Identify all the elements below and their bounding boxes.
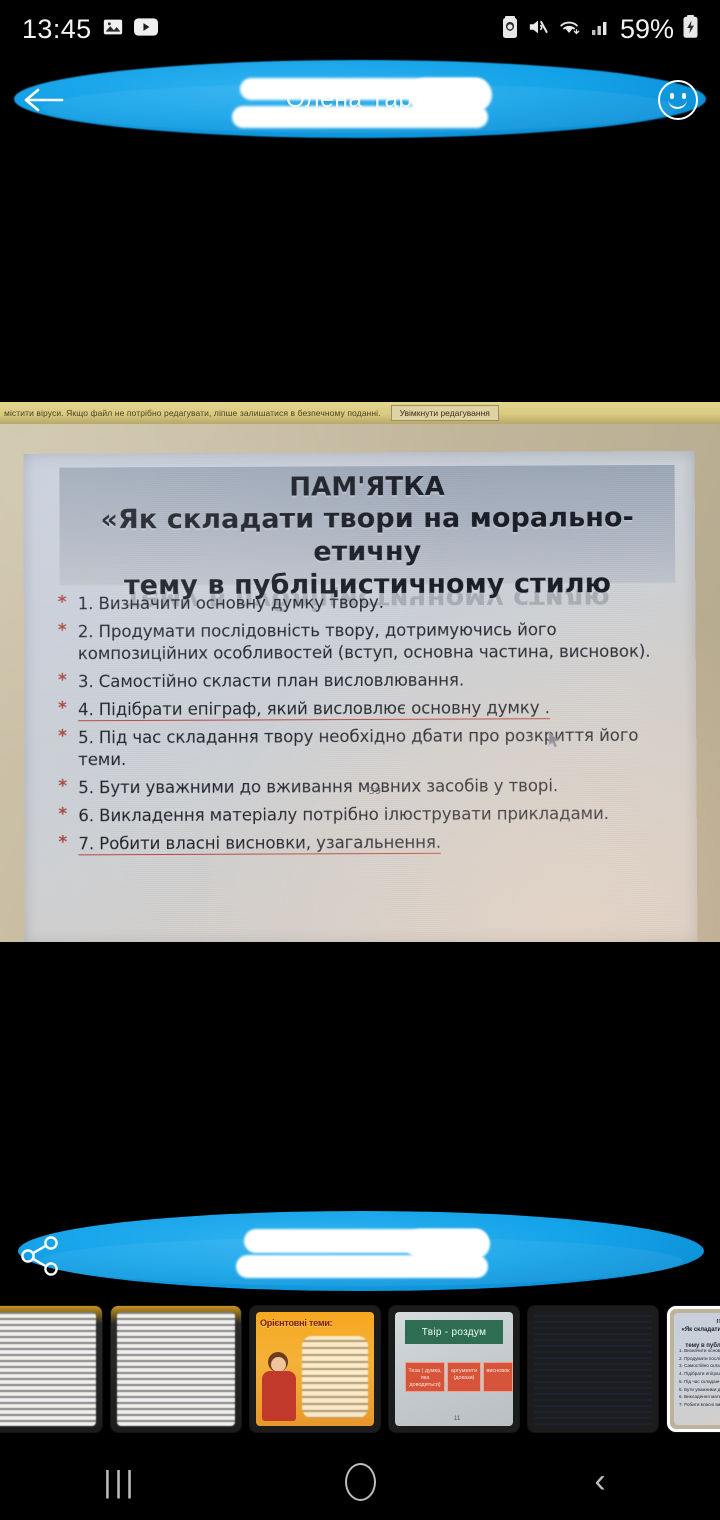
slide-content: ПАМ'ЯТКА «Як складати твори на морально-… [37,459,683,940]
slide-bullet-item: * 5. Бути уважними до вживання мовних за… [52,775,674,800]
status-bar-left: 13:45 [22,14,158,45]
bullet-star-icon: * [58,831,67,853]
slide-bullet-item: * 7. Робити власні висновки, узагальненн… [52,831,675,856]
thumbnail-body-line: 4. Підібрати епіграф, який висловлює осн… [679,1370,720,1377]
eco-battery-icon [502,16,518,43]
thumbnail-title: ПАМ'ЯТКА «Як складати твори на морально-… [679,1318,720,1350]
recents-icon[interactable]: ||| [75,1452,165,1512]
bullet-star-icon: * [58,669,67,691]
thumbnail-filmstrip[interactable]: Орієнтовні теми: Твір - роздум Теза ( ду… [0,1301,720,1437]
thumbnail-document-2[interactable] [111,1306,241,1432]
thumbnail-body-line: 5. Під час складання твору необхідно дба… [679,1378,720,1385]
thumbnail-slide-surface: Твір - роздум Теза ( думка, яка доводить… [395,1312,513,1426]
thumbnail-person-illustration [260,1352,300,1422]
thumbnail-document-page [0,1312,96,1426]
slide-bullet-text: 2. Продумати послідовність твору, дотрим… [78,620,651,663]
status-clock: 13:45 [22,14,92,45]
status-bar: 13:45 59% [0,0,720,58]
thumbnail-document-page [117,1312,235,1426]
thumbnail-diagram-box-3: висновок [483,1362,513,1392]
wifi-icon [558,17,582,42]
charging-battery-icon [683,15,698,43]
thumbnail-diagram-box-2: аргументи (докази) [447,1362,481,1392]
slide-title-block: ПАМ'ЯТКА «Як складати твори на морально-… [59,465,675,585]
thumbnail-body-line: 2. Продумати послідовність твору, дотрим… [679,1355,720,1362]
thumbnail-tvir-rozdum[interactable]: Твір - роздум Теза ( думка, яка доводить… [389,1306,519,1432]
slide-bullet-item: * 5. Під час складання твору необхідно д… [52,725,674,772]
slide-bullet-item: * 1. Визначити основну думку твору. [52,591,674,616]
slide-bullet-text: 6. Викладення матеріалу потрібно ілюстру… [78,804,609,825]
bullet-star-icon: * [58,775,67,797]
home-glyph [345,1463,376,1501]
slide-title-line-1: ПАМ'ЯТКА [59,471,674,504]
gallery-icon [102,16,124,43]
enable-editing-button[interactable]: Увімкнути редагування [391,405,499,421]
thumbnail-pamyatka-selected[interactable]: ПАМ'ЯТКА «Як складати твори на морально-… [667,1306,720,1432]
slide-bullet-item: * 3. Самостійно скласти план висловлюван… [52,669,674,694]
android-navigation-bar: ||| ‹ [0,1443,720,1520]
bottom-background-blob [18,1211,704,1291]
back-glyph: ‹ [594,1462,605,1501]
share-icon[interactable] [20,1235,64,1277]
status-bar-right: 59% [502,14,698,45]
slide-bullet-text: 3. Самостійно скласти план висловлювання… [78,671,464,692]
recents-glyph: ||| [103,1464,136,1500]
bullet-star-icon: * [58,697,67,719]
thumbnail-orienteering-topics[interactable]: Орієнтовні теми: [250,1306,380,1432]
slide-bullet-item: * 4. Підібрати епіграф, який висловлює о… [52,697,674,722]
thumbnail-page-number: 11 [454,1416,460,1422]
signal-icon [591,17,611,42]
slide-bullet-text: 7. Робити власні висновки, узагальнення. [78,833,441,856]
phone-screen: 13:45 59% [0,0,720,1520]
protected-view-warning-text: містити віруси. Якщо файл не потрібно ре… [4,408,381,418]
thumbnail-title-line-2: «Як складати твори на морально-етичну [679,1326,720,1342]
thumbnail-document-1[interactable] [0,1306,102,1432]
thumbnail-body-line: 1. Визначити основну думку твору. [679,1347,720,1354]
presentation-slide: ПАМ'ЯТКА «Як складати твори на морально-… [23,451,697,942]
home-icon[interactable] [315,1452,405,1512]
thumbnail-body-line: 7. Робити власні висновки, узагальнення. [679,1401,720,1408]
thumbnail-slide-surface: ПАМ'ЯТКА «Як складати твори на морально-… [674,1313,720,1425]
back-icon[interactable]: ‹ [555,1452,645,1512]
slide-bullet-item: * 6. Викладення матеріалу потрібно ілюст… [52,803,675,828]
mouse-pointer-icon [548,731,560,749]
shared-photo-of-slide[interactable]: містити віруси. Якщо файл не потрібно ре… [0,402,720,942]
thumbnail-body: 1. Визначити основну думку твору. 2. Про… [679,1347,720,1421]
slide-bullet-text: 4. Підібрати епіграф, який висловлює осн… [78,698,550,721]
app-header: Олена Тар... [0,60,720,138]
back-arrow-icon[interactable] [22,86,66,114]
battery-percent-label: 59% [620,14,674,45]
page-title: Олена Тар... [0,60,720,138]
thumbnail-slide-surface: Орієнтовні теми: [256,1312,374,1426]
slide-page-number: 39 [368,786,381,797]
thumbnail-body-line: 5. Бути уважними до вживання мовних засо… [679,1386,720,1393]
slide-bullet-item: * 2. Продумати послідовність твору, дотр… [52,619,674,666]
thumbnail-arrow-diagram: Теза ( думка, яка доводиться) аргументи … [403,1356,507,1398]
photo-background: ПАМ'ЯТКА «Як складати твори на морально-… [0,424,720,942]
bullet-star-icon: * [58,725,67,747]
thumbnail-text-card [302,1336,368,1418]
slide-title-line-2: «Як складати твори на морально-етичну [59,501,675,570]
thumbnail-body-line: 3. Самостійно скласти план висловлювання… [679,1362,720,1369]
bottom-action-bar [0,1207,720,1299]
bullet-star-icon: * [58,803,67,825]
bullet-star-icon: * [58,591,67,613]
smiley-face-icon[interactable] [658,80,698,120]
youtube-icon [134,17,158,42]
thumbnail-slide-surface [534,1312,652,1426]
slide-bullet-list: * 1. Визначити основну думку твору. * 2.… [52,591,675,862]
thumbnail-title: Орієнтовні теми: [260,1318,370,1328]
thumbnail-title-line-1: ПАМ'ЯТКА [679,1318,720,1326]
thumbnail-body-line: 6. Викладення матеріалу потрібно ілюстру… [679,1393,720,1400]
bullet-star-icon: * [58,619,67,641]
slide-bullet-text: 5. Бути уважними до вживання мовних засо… [78,776,558,797]
mute-icon [527,17,549,42]
thumbnail-title: Твір - роздум [405,1320,503,1344]
protected-view-warning-bar: містити віруси. Якщо файл не потрібно ре… [0,402,720,424]
thumbnail-diagram-box-1: Теза ( думка, яка доводиться) [405,1362,445,1392]
thumbnail-text-slide[interactable] [528,1306,658,1432]
slide-bullet-text: 1. Визначити основну думку твору. [78,593,384,613]
